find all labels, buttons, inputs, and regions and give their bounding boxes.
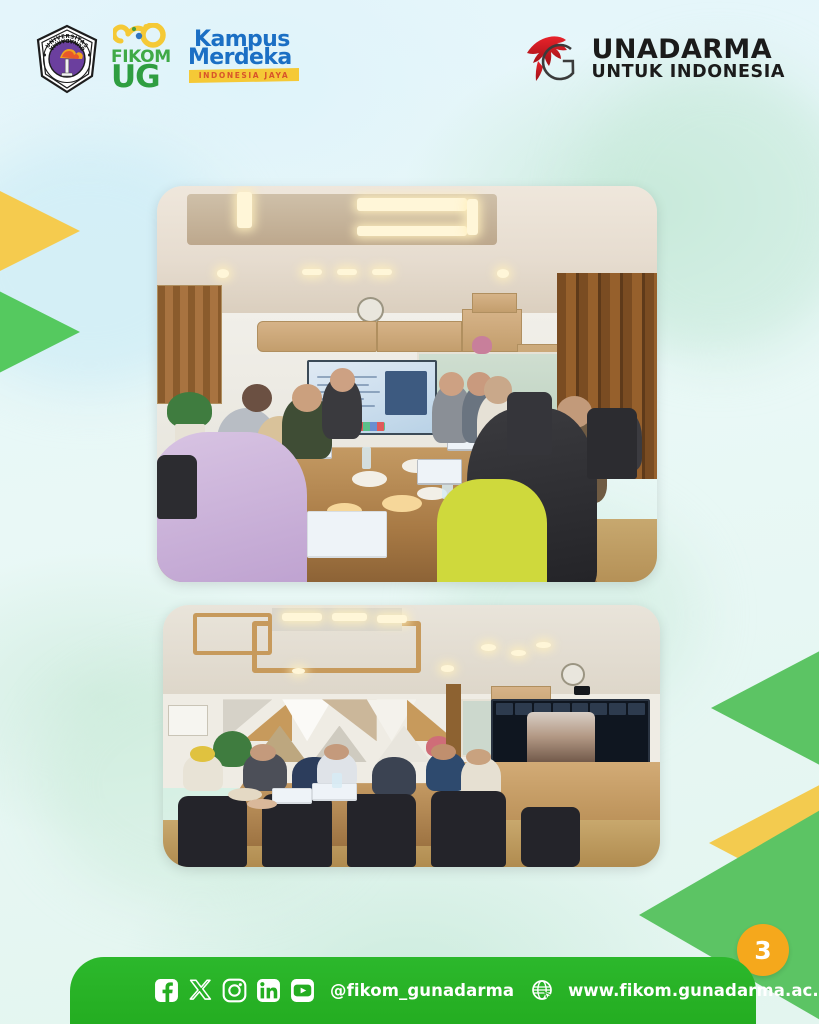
garuda-eagle-head-g-icon xyxy=(524,31,586,87)
x-twitter-icon[interactable] xyxy=(188,978,213,1003)
globe-cursor-icon xyxy=(531,979,555,1003)
fikom-ug-logo: FIKOM UG xyxy=(111,23,173,95)
footer-contact-bar: @fikom_gunadarma www.fikom.gunadarma.ac.… xyxy=(70,957,756,1024)
instagram-icon[interactable] xyxy=(222,978,247,1003)
kampus-merdeka-line2: Merdeka xyxy=(188,45,292,70)
kampus-merdeka-logo: Kampus Merdeka INDONESIA JAYA xyxy=(188,28,300,90)
header-left-logos: UNIVERSITAS GUNADARMA xyxy=(34,23,300,95)
unadarma-untuk-indonesia-logo: UNADARMA UNTUK INDONESIA xyxy=(524,31,785,87)
universitas-gunadarma-crest: UNIVERSITAS GUNADARMA xyxy=(34,24,100,94)
kampus-merdeka-ribbon-text: INDONESIA JAYA xyxy=(189,68,299,83)
header-logo-bar: UNIVERSITAS GUNADARMA xyxy=(0,0,819,118)
facebook-icon[interactable] xyxy=(154,978,179,1003)
linkedin-icon[interactable] xyxy=(256,978,281,1003)
photo-hybrid-meeting-video-conference xyxy=(163,605,660,867)
photo-meeting-room-discussion xyxy=(157,186,657,582)
photo-top-content xyxy=(157,186,657,582)
photo-bottom-content xyxy=(163,605,660,867)
unadarma-line1: UNADARMA xyxy=(592,36,785,63)
website-url: www.fikom.gunadarma.ac.id xyxy=(568,981,819,1000)
fikom-loop-icon xyxy=(113,23,171,48)
ug-wordmark: UG xyxy=(111,61,173,93)
slide-canvas: UNIVERSITAS GUNADARMA xyxy=(0,0,819,1024)
unadarma-line2: UNTUK INDONESIA xyxy=(592,64,785,82)
kampus-merdeka-ribbon: INDONESIA JAYA xyxy=(189,68,299,83)
youtube-icon[interactable] xyxy=(290,978,315,1003)
social-handle: @fikom_gunadarma xyxy=(330,981,514,1000)
unadarma-wordmark-block: UNADARMA UNTUK INDONESIA xyxy=(592,36,785,82)
